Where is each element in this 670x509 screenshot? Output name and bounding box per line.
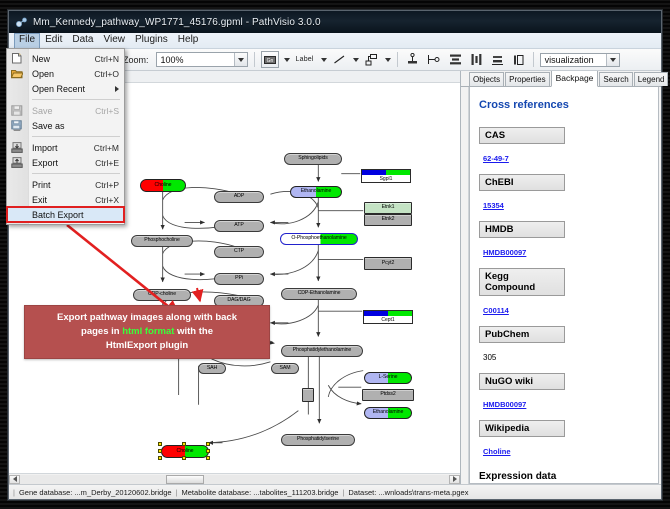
- menu-edit[interactable]: Edit: [40, 33, 67, 48]
- callout-line-1: Export pathway images along with back: [31, 311, 263, 325]
- xref-value-wikipedia[interactable]: Choline: [483, 447, 511, 456]
- open-folder-icon: [11, 68, 23, 79]
- xref-name-wikipedia: Wikipedia: [479, 420, 565, 437]
- file-menu-item-open[interactable]: Open Ctrl+O: [7, 66, 124, 81]
- export-icon: [11, 157, 23, 168]
- sidebar-panel: Objects Properties Backpage Search Legen…: [461, 71, 661, 484]
- file-menu-label: Print: [32, 180, 89, 190]
- import-icon: [11, 142, 23, 153]
- label-tool-button[interactable]: Label: [294, 51, 316, 68]
- xref-value-chebi[interactable]: 15354: [483, 201, 504, 210]
- file-menu-label: Exit: [32, 195, 89, 205]
- submenu-chevron-right-icon: [115, 86, 119, 92]
- menu-file[interactable]: File: [14, 33, 40, 48]
- file-menu-item-exit[interactable]: Exit Ctrl+X: [7, 192, 124, 207]
- xref-entry: CAS 62-49-7: [479, 127, 649, 174]
- canvas-horizontal-scrollbar[interactable]: [9, 473, 460, 484]
- file-menu-label: Export: [32, 158, 89, 168]
- toolbar-separator-3: [533, 52, 534, 67]
- toolbar-separator-2: [397, 52, 398, 67]
- zoom-combobox[interactable]: 100%: [156, 52, 248, 67]
- file-menu-item-print[interactable]: Print Ctrl+P: [7, 177, 124, 192]
- file-menu-separator: [32, 173, 120, 174]
- order-icon[interactable]: [510, 51, 527, 68]
- window-title: Mm_Kennedy_pathway_WP1771_45176.gpml - P…: [33, 17, 321, 28]
- screenshot-root: Mm_Kennedy_pathway_WP1771_45176.gpml - P…: [0, 0, 670, 509]
- xref-value-cas[interactable]: 62-49-7: [483, 154, 509, 163]
- xref-value-nugo[interactable]: HMDB00097: [483, 400, 526, 409]
- xref-name-kegg: Kegg Compound: [479, 268, 565, 296]
- tab-backpage[interactable]: Backpage: [551, 70, 599, 87]
- status-dataset: Dataset: ...wnloads\trans-meta.pgex: [344, 488, 472, 497]
- scroll-track[interactable]: [20, 475, 449, 484]
- file-menu-label: Open Recent: [32, 84, 111, 94]
- shape-dropdown-arrow[interactable]: [385, 58, 391, 62]
- file-menu-separator: [32, 136, 120, 137]
- file-menu-label: New: [32, 54, 89, 64]
- svg-text:Gn: Gn: [266, 58, 273, 64]
- file-menu-item-open-recent[interactable]: Open Recent: [7, 81, 124, 96]
- xref-entry: ChEBI 15354: [479, 174, 649, 221]
- menu-bar: File Edit Data View Plugins Help: [9, 33, 661, 49]
- expression-data-title: Expression data: [479, 471, 649, 482]
- xref-name-pubchem: PubChem: [479, 326, 565, 343]
- file-menu-separator: [32, 99, 120, 100]
- shape-tool-icon[interactable]: [363, 51, 380, 68]
- new-document-icon: [11, 53, 23, 64]
- label-dropdown-arrow[interactable]: [321, 58, 327, 62]
- tab-objects[interactable]: Objects: [469, 72, 504, 86]
- file-menu-label: Open: [32, 69, 88, 79]
- file-menu-accelerator: Ctrl+E: [95, 158, 119, 168]
- zoom-value: 100%: [161, 55, 234, 65]
- file-menu-label: Save as: [32, 121, 113, 131]
- visualization-chevron-down-icon[interactable]: [606, 54, 619, 66]
- chevron-down-icon[interactable]: [234, 53, 247, 66]
- file-menu-label: Save: [32, 106, 89, 116]
- line-dropdown-arrow[interactable]: [353, 58, 359, 62]
- visualization-combobox[interactable]: visualization: [540, 53, 620, 67]
- save-disk-icon: [11, 105, 23, 116]
- label-tool-text: Label: [296, 56, 314, 63]
- menu-help[interactable]: Help: [173, 33, 204, 48]
- status-gene-database: Gene database: ...m_Derby_20120602.bridg…: [15, 488, 176, 497]
- file-menu-label: Batch Export: [32, 210, 113, 220]
- xref-value-hmdb[interactable]: HMDB00097: [483, 248, 526, 257]
- annotation-callout: Export pathway images along with back pa…: [24, 305, 270, 359]
- xref-value-pubchem: 305: [483, 353, 496, 362]
- callout-line-2: pages in html format with the: [31, 325, 263, 339]
- file-menu-item-batch-export[interactable]: Batch Export: [7, 207, 124, 222]
- file-menu-accelerator: Ctrl+P: [95, 180, 119, 190]
- status-bar: | Gene database: ...m_Derby_20120602.bri…: [9, 484, 661, 499]
- file-menu-accelerator: Ctrl+S: [95, 106, 119, 116]
- menu-view[interactable]: View: [98, 33, 130, 48]
- file-menu-accelerator: Ctrl+X: [95, 195, 119, 205]
- xref-entry: PubChem 305: [479, 326, 649, 373]
- line-tool-icon[interactable]: [331, 51, 348, 68]
- xref-value-kegg[interactable]: C00114: [483, 306, 509, 315]
- callout-html-format: html format: [122, 326, 174, 337]
- xref-entry: HMDB HMDB00097: [479, 221, 649, 268]
- zoom-label: Zoom:: [123, 55, 149, 65]
- callout-line2-b: with the: [174, 326, 213, 337]
- file-menu-item-save-as[interactable]: Save as: [7, 118, 124, 133]
- file-menu-item-save[interactable]: Save Ctrl+S: [7, 103, 124, 118]
- align-left-icon[interactable]: [425, 51, 443, 68]
- file-menu-item-export[interactable]: Export Ctrl+E: [7, 155, 124, 170]
- tab-properties[interactable]: Properties: [505, 72, 549, 86]
- tab-legend[interactable]: Legend: [634, 72, 669, 86]
- scroll-left-icon[interactable]: [9, 475, 20, 484]
- align-top-icon[interactable]: [404, 51, 421, 68]
- status-metabolite-database: Metabolite database: ...tabolites_111203…: [178, 488, 343, 497]
- menu-plugins[interactable]: Plugins: [130, 33, 173, 48]
- gene-product-icon[interactable]: Gn: [261, 51, 279, 68]
- xref-entry: NuGO wiki HMDB00097: [479, 373, 649, 420]
- gene-dropdown-arrow[interactable]: [284, 58, 290, 62]
- scroll-right-icon[interactable]: [449, 475, 460, 484]
- file-menu-accelerator: Ctrl+N: [95, 54, 119, 64]
- xref-name-nugo: NuGO wiki: [479, 373, 565, 390]
- pathvisio-app-icon: [15, 16, 28, 29]
- file-menu-accelerator: Ctrl+O: [94, 69, 119, 79]
- xref-entry: Kegg Compound C00114: [479, 268, 649, 326]
- distribute-horizontal-icon[interactable]: [468, 51, 485, 68]
- callout-line-3: HtmlExport plugin: [31, 339, 263, 353]
- callout-line2-a: pages in: [81, 326, 122, 337]
- scroll-thumb[interactable]: [166, 475, 205, 484]
- file-menu-label: Import: [32, 143, 88, 153]
- tab-search[interactable]: Search: [599, 72, 632, 86]
- xref-name-cas: CAS: [479, 127, 565, 144]
- file-menu-item-new[interactable]: New Ctrl+N: [7, 51, 124, 66]
- save-as-icon: [11, 120, 23, 131]
- xref-entry: Wikipedia Choline: [479, 420, 649, 467]
- file-menu-popup[interactable]: New Ctrl+N Open Ctrl+O Open Recent: [6, 48, 125, 225]
- distribute-vertical-icon[interactable]: [447, 51, 464, 68]
- sidebar-divider-rail[interactable]: [461, 87, 469, 484]
- toolbar-separator: [254, 52, 255, 67]
- stack-icon[interactable]: [489, 51, 506, 68]
- xref-name-chebi: ChEBI: [479, 174, 565, 191]
- file-menu-accelerator: Ctrl+M: [94, 143, 119, 153]
- menu-data[interactable]: Data: [67, 33, 98, 48]
- cross-references-title: Cross references: [479, 99, 649, 111]
- file-menu-item-import[interactable]: Import Ctrl+M: [7, 140, 124, 155]
- xref-name-hmdb: HMDB: [479, 221, 565, 238]
- visualization-value: visualization: [545, 55, 606, 65]
- backpage-content: Cross references CAS 62-49-7 ChEBI 15354…: [469, 87, 659, 484]
- title-bar: Mm_Kennedy_pathway_WP1771_45176.gpml - P…: [9, 11, 661, 33]
- sidebar-tabs: Objects Properties Backpage Search Legen…: [461, 71, 661, 87]
